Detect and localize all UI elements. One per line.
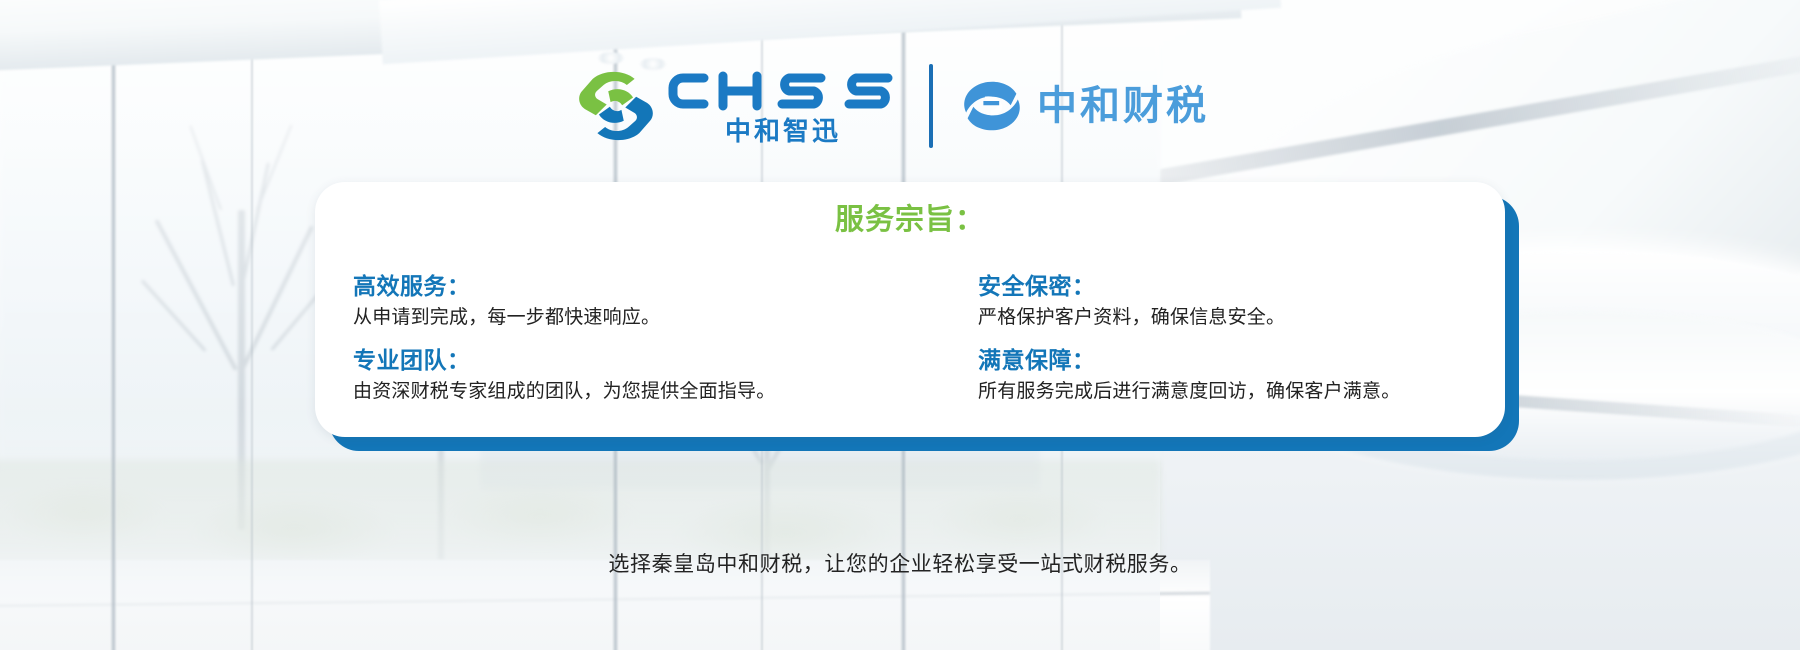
principle-description: 从申请到完成，每一步都快速响应。 xyxy=(353,304,892,332)
principle-item-professional-team: 专业团队： 由资深财税专家组成的团队，为您提供全面指导。 xyxy=(353,346,892,405)
footer-tagline: 选择秦皇岛中和财税，让您的企业轻松享受一站式财税服务。 xyxy=(0,548,1800,578)
principle-description: 严格保护客户资料，确保信息安全。 xyxy=(978,304,1467,332)
primary-logo[interactable]: 中和智迅 xyxy=(577,66,903,146)
svg-text:中和财税: 中和财税 xyxy=(1037,84,1209,128)
primary-logo-wordmark: 中和智迅 xyxy=(661,66,903,146)
svg-text:中和智迅: 中和智迅 xyxy=(725,116,841,146)
card-columns: 高效服务： 从申请到完成，每一步都快速响应。 专业团队： 由资深财税专家组成的团… xyxy=(349,272,1471,405)
logo-divider xyxy=(929,64,933,148)
chss-chinese-wordmark: 中和智迅 xyxy=(725,116,893,146)
principle-heading: 高效服务： xyxy=(353,272,892,302)
chss-interlock-logo-mark xyxy=(577,68,655,144)
principle-item-security-confidentiality: 安全保密： 严格保护客户资料，确保信息安全。 xyxy=(978,272,1467,331)
principle-description: 所有服务完成后进行满意度回访，确保客户满意。 xyxy=(978,378,1467,406)
card-column-left: 高效服务： 从申请到完成，每一步都快速响应。 专业团队： 由资深财税专家组成的团… xyxy=(353,272,910,405)
principle-heading: 安全保密： xyxy=(978,272,1467,302)
service-principles-card-wrapper: 服务宗旨： 高效服务： 从申请到完成，每一步都快速响应。 专业团队： 由资深财税… xyxy=(315,182,1505,437)
principle-item-efficient-service: 高效服务： 从申请到完成，每一步都快速响应。 xyxy=(353,272,892,331)
chss-latin-wordmark xyxy=(661,66,903,114)
secondary-logo[interactable]: 中和财税 xyxy=(959,75,1223,137)
zhonghe-caishui-logo-mark xyxy=(959,75,1025,137)
principle-heading: 满意保障： xyxy=(978,346,1467,376)
service-principles-card: 服务宗旨： 高效服务： 从申请到完成，每一步都快速响应。 专业团队： 由资深财税… xyxy=(315,182,1505,437)
service-principles-banner: 中和智迅 中和财税 服务宗旨： 高效服务： xyxy=(0,0,1800,650)
card-title: 服务宗旨： xyxy=(349,202,1471,238)
logo-row: 中和智迅 中和财税 xyxy=(0,58,1800,154)
card-column-right: 安全保密： 严格保护客户资料，确保信息安全。 满意保障： 所有服务完成后进行满意… xyxy=(910,272,1467,405)
principle-item-satisfaction-guarantee: 满意保障： 所有服务完成后进行满意度回访，确保客户满意。 xyxy=(978,346,1467,405)
principle-heading: 专业团队： xyxy=(353,346,892,376)
zhonghe-caishui-wordmark: 中和财税 xyxy=(1037,84,1223,128)
principle-description: 由资深财税专家组成的团队，为您提供全面指导。 xyxy=(353,378,892,406)
